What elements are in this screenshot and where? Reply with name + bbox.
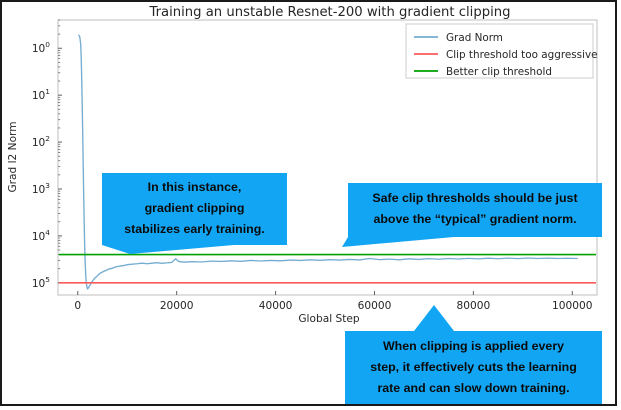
callout-early-training[interactable]: In this instance,gradient clippingstabil… [102,173,287,254]
x-axis-label: Global Step [298,313,360,325]
callout-line: In this instance, [148,180,242,194]
callout-tail [414,305,454,331]
legend-label: Better clip threshold [446,66,552,78]
chart-title: Training an unstable Resnet-200 with gra… [149,5,511,20]
screenshot-frame: Training an unstable Resnet-200 with gra… [0,0,617,406]
callout-line: gradient clipping [145,201,245,215]
y-tick-label: 103 [32,181,50,196]
y-tick-label: 100 [32,40,50,55]
x-tick-label: 100000 [552,300,593,312]
callout-line: stabilizes early training. [124,222,264,236]
callout-line: step, it effectively cuts the learning [370,360,577,374]
callout-line: rate and can slow down training. [377,381,569,395]
y-tick-label: 104 [32,228,50,243]
y-axis-ticks: 105104103102101100 [32,20,62,290]
x-tick-label: 80000 [457,300,491,312]
y-tick-label: 105 [32,275,50,290]
callout-learning-rate[interactable]: When clipping is applied everystep, it e… [345,305,602,404]
callout-line: Safe clip thresholds should be just [372,191,577,205]
x-tick-label: 0 [74,300,81,312]
x-tick-label: 20000 [160,300,194,312]
x-tick-label: 60000 [358,300,392,312]
callout-line: above the “typical” gradient norm. [373,212,576,226]
y-tick-label: 102 [32,134,50,149]
y-axis-label: Grad l2 Norm [7,121,19,192]
y-tick-label: 101 [32,87,50,102]
chart-canvas: Training an unstable Resnet-200 with gra… [2,2,617,406]
chart-legend: Grad NormClip threshold too aggressiveBe… [406,24,598,78]
callout-line: When clipping is applied every [383,339,564,353]
legend-label: Clip threshold too aggressive [446,49,598,61]
legend-label: Grad Norm [446,32,503,44]
x-tick-label: 40000 [259,300,293,312]
